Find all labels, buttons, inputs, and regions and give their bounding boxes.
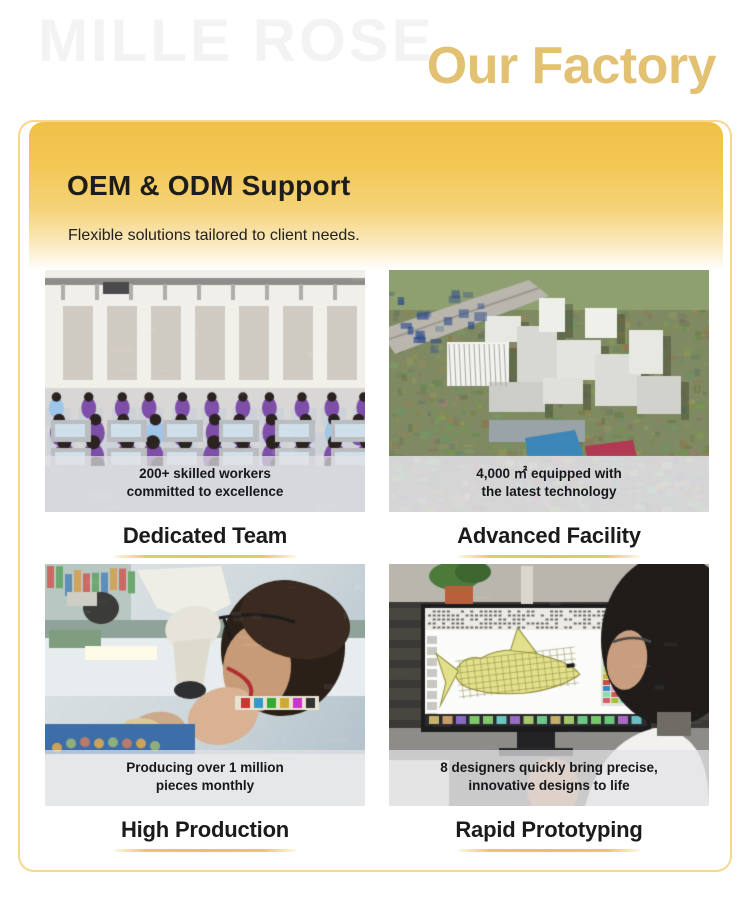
card-title: High Production <box>45 806 365 843</box>
feature-card-grid: 200+ skilled workers committed to excell… <box>45 270 709 852</box>
photo-caption: 200+ skilled workers committed to excell… <box>45 456 365 512</box>
photo-high-production: Producing over 1 million pieces monthly <box>45 564 365 806</box>
feature-card-advanced-facility[interactable]: 4,000 ㎡ equipped with the latest technol… <box>389 270 709 558</box>
photo-dedicated-team: 200+ skilled workers committed to excell… <box>45 270 365 512</box>
photo-advanced-facility: 4,000 ㎡ equipped with the latest technol… <box>389 270 709 512</box>
title-underline <box>458 849 640 852</box>
title-underline <box>458 555 640 558</box>
title-underline <box>114 555 296 558</box>
photo-caption: Producing over 1 million pieces monthly <box>45 750 365 806</box>
feature-card-dedicated-team[interactable]: 200+ skilled workers committed to excell… <box>45 270 365 558</box>
banner-title: OEM & ODM Support <box>67 170 350 202</box>
page-title: Our Factory <box>427 36 716 96</box>
page-header: MILLE ROSE Our Factory <box>0 0 750 118</box>
photo-caption: 8 designers quickly bring precise, innov… <box>389 750 709 806</box>
photo-rapid-prototyping: 8 designers quickly bring precise, innov… <box>389 564 709 806</box>
card-title: Dedicated Team <box>45 512 365 549</box>
brand-watermark: MILLE ROSE <box>38 6 435 75</box>
photo-caption: 4,000 ㎡ equipped with the latest technol… <box>389 456 709 512</box>
card-title: Advanced Facility <box>389 512 709 549</box>
content-frame: OEM & ODM Support Flexible solutions tai… <box>18 120 732 872</box>
banner-subtitle: Flexible solutions tailored to client ne… <box>68 227 360 245</box>
oem-odm-banner: OEM & ODM Support Flexible solutions tai… <box>29 122 723 270</box>
title-underline <box>114 849 296 852</box>
card-title: Rapid Prototyping <box>389 806 709 843</box>
feature-card-high-production[interactable]: Producing over 1 million pieces monthly … <box>45 564 365 852</box>
feature-card-rapid-prototyping[interactable]: 8 designers quickly bring precise, innov… <box>389 564 709 852</box>
